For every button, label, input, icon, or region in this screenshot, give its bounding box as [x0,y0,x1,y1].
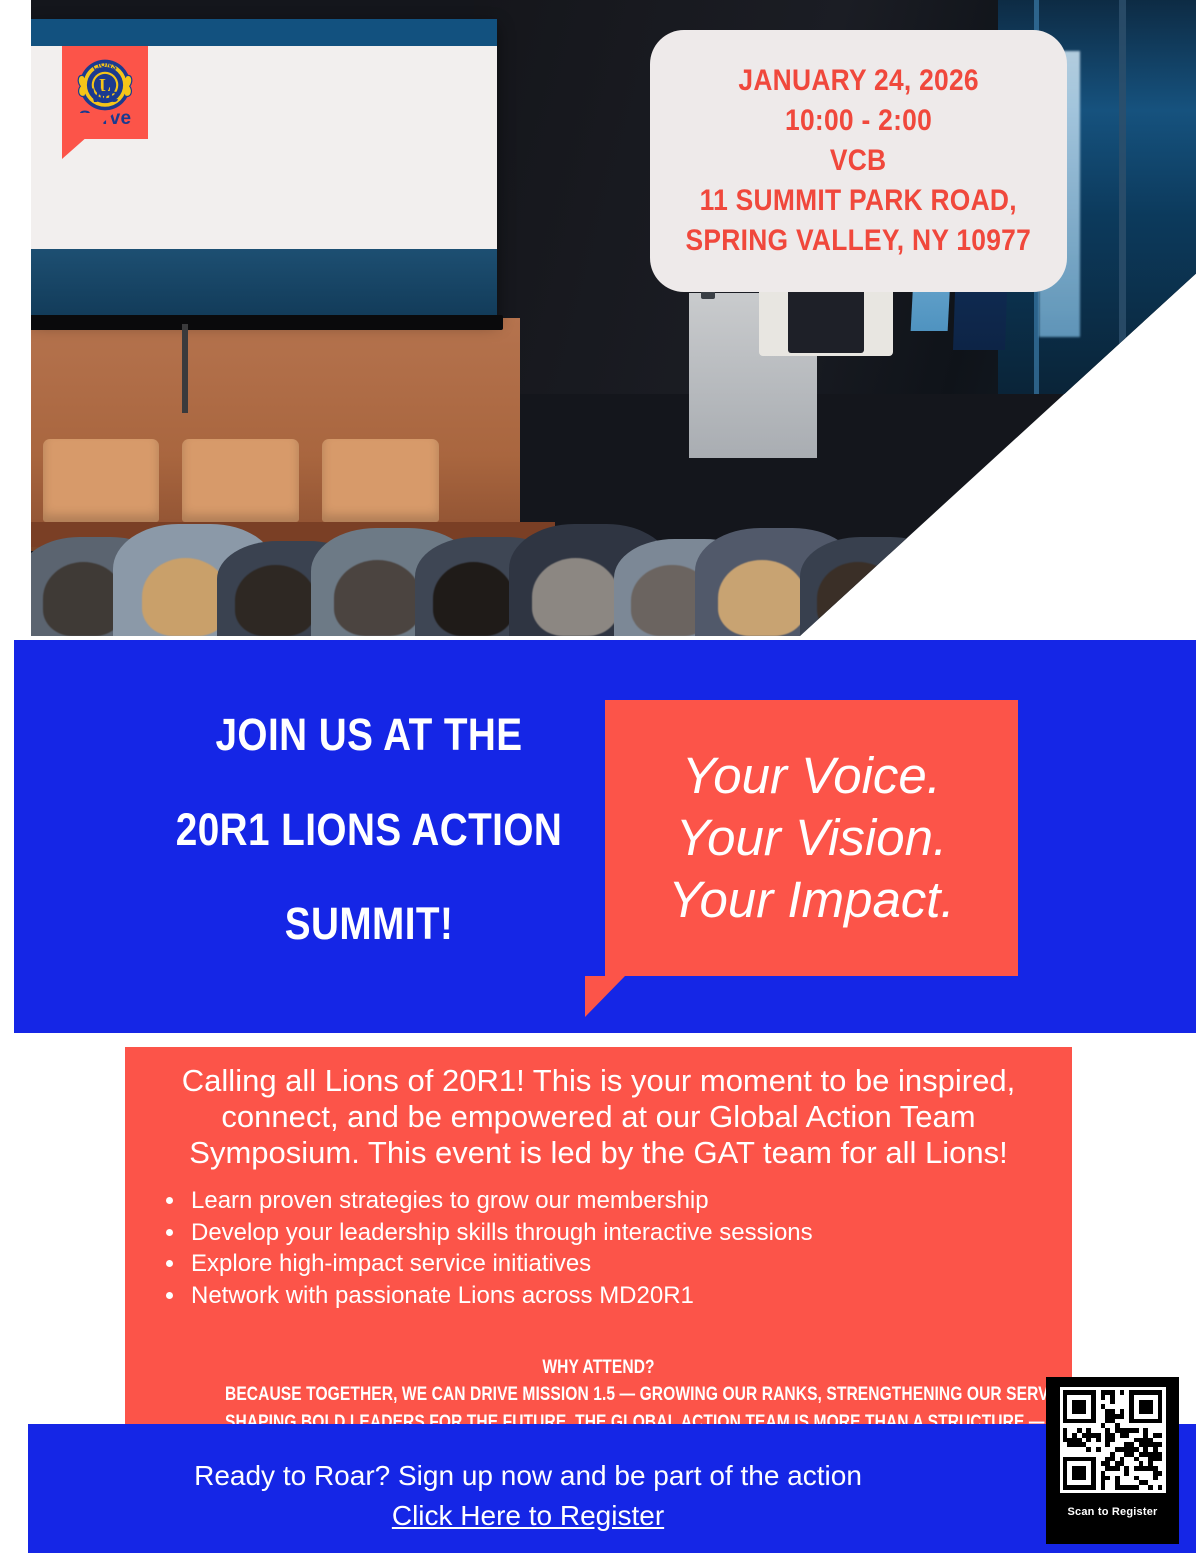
list-item: Explore high-impact service initiatives [187,1248,1054,1280]
tagline-bubble: Your Voice. Your Vision. Your Impact. [605,700,1018,976]
why-attend-line-1: BECAUSE TOGETHER, WE CAN DRIVE MISSION 1… [225,1381,972,1409]
event-date: JANUARY 24, 2026 [738,61,978,101]
cta-prompt: Ready to Roar? Sign up now and be part o… [28,1456,1028,1496]
event-details-badge: JANUARY 24, 2026 10:00 - 2:00 VCB 11 SUM… [650,30,1067,292]
headline-banner: JOIN US AT THE 20R1 LIONS ACTION SUMMIT!… [14,640,1196,1033]
qr-card[interactable]: Scan to Register [1046,1377,1179,1544]
tagline-line-2: Your Vision. [676,807,947,869]
cta-banner: Ready to Roar? Sign up now and be part o… [28,1424,1196,1553]
screen-pole [182,324,188,413]
cta-text-group: Ready to Roar? Sign up now and be part o… [28,1456,1028,1536]
screen-top-band [31,19,497,46]
event-time: 10:00 - 2:00 [785,101,932,141]
headline-line-2: 20R1 LIONS ACTION [167,783,571,878]
list-item: Learn proven strategies to grow our memb… [187,1185,1054,1217]
intro-paragraph: Calling all Lions of 20R1! This is your … [143,1061,1054,1171]
register-link[interactable]: Click Here to Register [392,1496,664,1536]
qr-code-icon[interactable] [1060,1387,1166,1493]
benefits-list: Learn proven strategies to grow our memb… [187,1185,1054,1312]
tagline-line-1: Your Voice. [682,745,941,807]
projection-screen: L LIONS INTERNATIONAL We Serve [31,19,497,318]
page-title: JOIN US AT THE 20R1 LIONS ACTION SUMMIT! [134,688,604,972]
screen-frame [31,315,503,330]
event-address-line-2: SPRING VALLEY, NY 10977 [686,221,1031,261]
lions-logo-bubble: L LIONS INTERNATIONAL We Serve [62,46,148,139]
why-attend-title: WHY ATTEND? [225,1354,972,1382]
headline-line-1: JOIN US AT THE [167,688,571,783]
headline-line-3: SUMMIT! [167,877,571,972]
we-serve-tagline: We Serve [62,86,148,130]
list-item: Develop your leadership skills through i… [187,1217,1054,1249]
event-address-line-1: 11 SUMMIT PARK ROAD, [700,181,1017,221]
audience [31,420,1196,636]
flyer-page: L LIONS INTERNATIONAL We Serve [0,0,1196,1553]
screen-bottom-band [31,249,497,318]
tagline-line-3: Your Impact. [668,869,954,931]
details-panel: Calling all Lions of 20R1! This is your … [125,1047,1072,1456]
event-venue: VCB [830,141,887,181]
qr-caption: Scan to Register [1067,1506,1157,1518]
window-mullion [1119,0,1126,394]
list-item: Network with passionate Lions across MD2… [187,1280,1054,1312]
